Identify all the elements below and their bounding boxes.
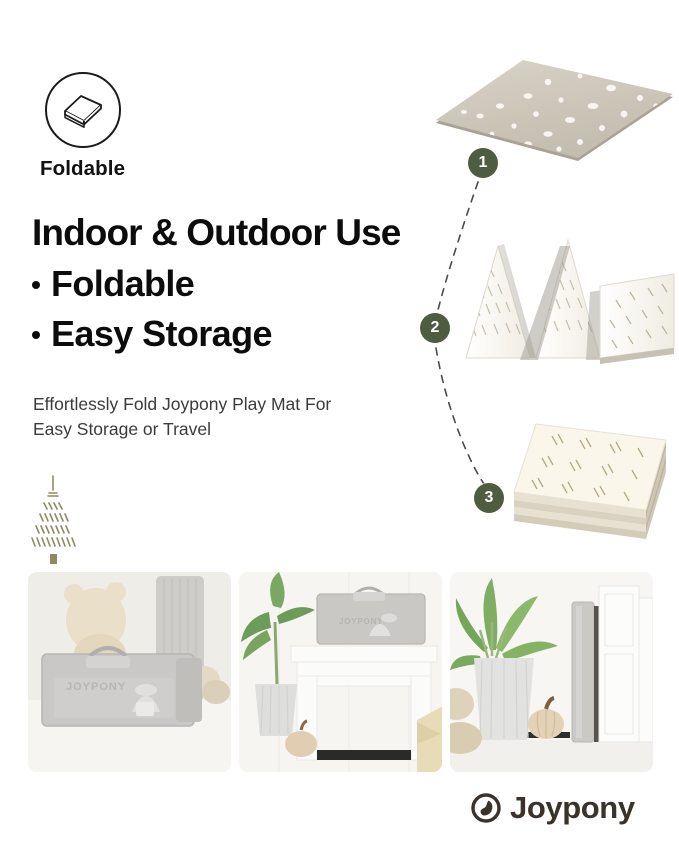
- photo-illustration: JOYPONY: [28, 572, 231, 772]
- stacked-sheets-icon: [59, 90, 107, 130]
- sketch-pine-tree-icon: [18, 470, 88, 570]
- subcopy-text: Effortlessly Fold Joypony Play Mat For E…: [33, 392, 363, 442]
- brand-wordmark: Joypony: [510, 790, 635, 826]
- folding-steps-diagram: 1 2: [412, 48, 679, 560]
- feature-bullet-easy-storage: Easy Storage: [32, 312, 452, 356]
- step-badge-3: 3: [474, 483, 504, 513]
- foldable-label: Foldable: [40, 157, 188, 181]
- photo-bag-with-teddy-bear: JOYPONY: [28, 572, 231, 772]
- photo-bag-on-mantel: JOYPONY: [239, 572, 442, 772]
- foldable-icon-circle: [45, 72, 121, 148]
- step-badge-2: 2: [420, 313, 450, 343]
- svg-text:JOYPONY: JOYPONY: [339, 617, 383, 626]
- brand-logo: Joypony: [471, 790, 635, 826]
- photo-illustration: [450, 572, 653, 772]
- photo-illustration: JOYPONY: [239, 572, 442, 772]
- page-title: Indoor & Outdoor Use: [32, 210, 452, 256]
- step-badge-1: 1: [468, 148, 498, 178]
- bullet-dot-icon: [32, 331, 40, 339]
- joypony-circle-mark-icon: [471, 793, 501, 823]
- headline-block: Indoor & Outdoor Use Foldable Easy Stora…: [32, 210, 452, 356]
- photo-bag-beside-cabinet: [450, 572, 653, 772]
- svg-text:JOYPONY: JOYPONY: [66, 681, 126, 693]
- step-connector-lines: [412, 48, 679, 560]
- feature-label: Easy Storage: [51, 312, 272, 356]
- feature-bullet-foldable: Foldable: [32, 262, 452, 306]
- foldable-badge: Foldable: [38, 72, 188, 181]
- lifestyle-photo-row: JOYPONY JOYPONY: [28, 572, 653, 772]
- feature-label: Foldable: [51, 262, 194, 306]
- bullet-dot-icon: [32, 281, 40, 289]
